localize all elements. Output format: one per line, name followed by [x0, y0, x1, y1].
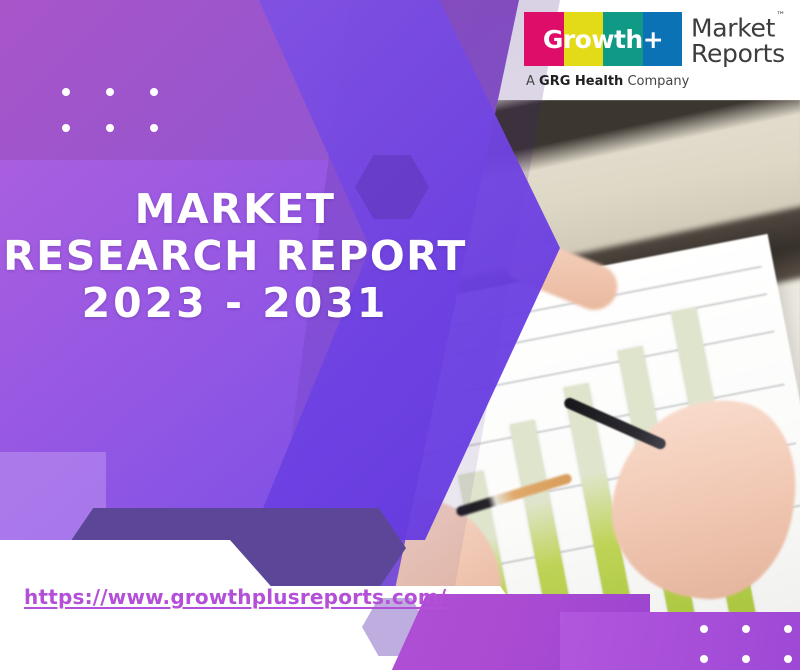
dot: [106, 88, 114, 96]
chart-bar: [509, 420, 580, 620]
dot: [784, 625, 792, 633]
dot: [62, 124, 70, 132]
tagline-bold: GRG Health: [539, 74, 623, 89]
dot: [150, 124, 158, 132]
logo-brand-text: Market™ Reports: [691, 12, 785, 67]
title-line-2: RESEARCH REPORT: [0, 233, 470, 280]
logo-row: Growth+ Market™ Reports: [524, 12, 785, 67]
report-cover: MARKET RESEARCH REPORT 2023 - 2031 https…: [0, 0, 800, 670]
dot: [62, 88, 70, 96]
logo-wordmark: Growth+: [524, 12, 682, 66]
title-line-3: 2023 - 2031: [0, 280, 470, 327]
dot-grid-top-left: [62, 88, 158, 132]
logo-brand-line-1: Market™: [691, 12, 785, 41]
dot: [784, 655, 792, 663]
logo-color-mark: Growth+: [524, 12, 682, 66]
dot: [150, 88, 158, 96]
dot-grid-bottom-right: [700, 625, 792, 663]
trademark-symbol: ™: [776, 11, 785, 21]
dot: [742, 655, 750, 663]
title-line-1: MARKET: [0, 186, 470, 233]
logo-brand-line-2: Reports: [691, 41, 785, 67]
dot: [742, 625, 750, 633]
tagline-suffix: Company: [623, 74, 689, 89]
logo-tagline: A GRG Health Company: [526, 74, 689, 89]
website-url-link[interactable]: https://www.growthplusreports.com/: [24, 585, 446, 609]
dot: [700, 655, 708, 663]
tagline-prefix: A: [526, 74, 539, 89]
dot: [700, 625, 708, 633]
page-title: MARKET RESEARCH REPORT 2023 - 2031: [0, 186, 470, 327]
dot: [106, 124, 114, 132]
brand-logo: Growth+ Market™ Reports A GRG Health Com…: [524, 12, 785, 89]
